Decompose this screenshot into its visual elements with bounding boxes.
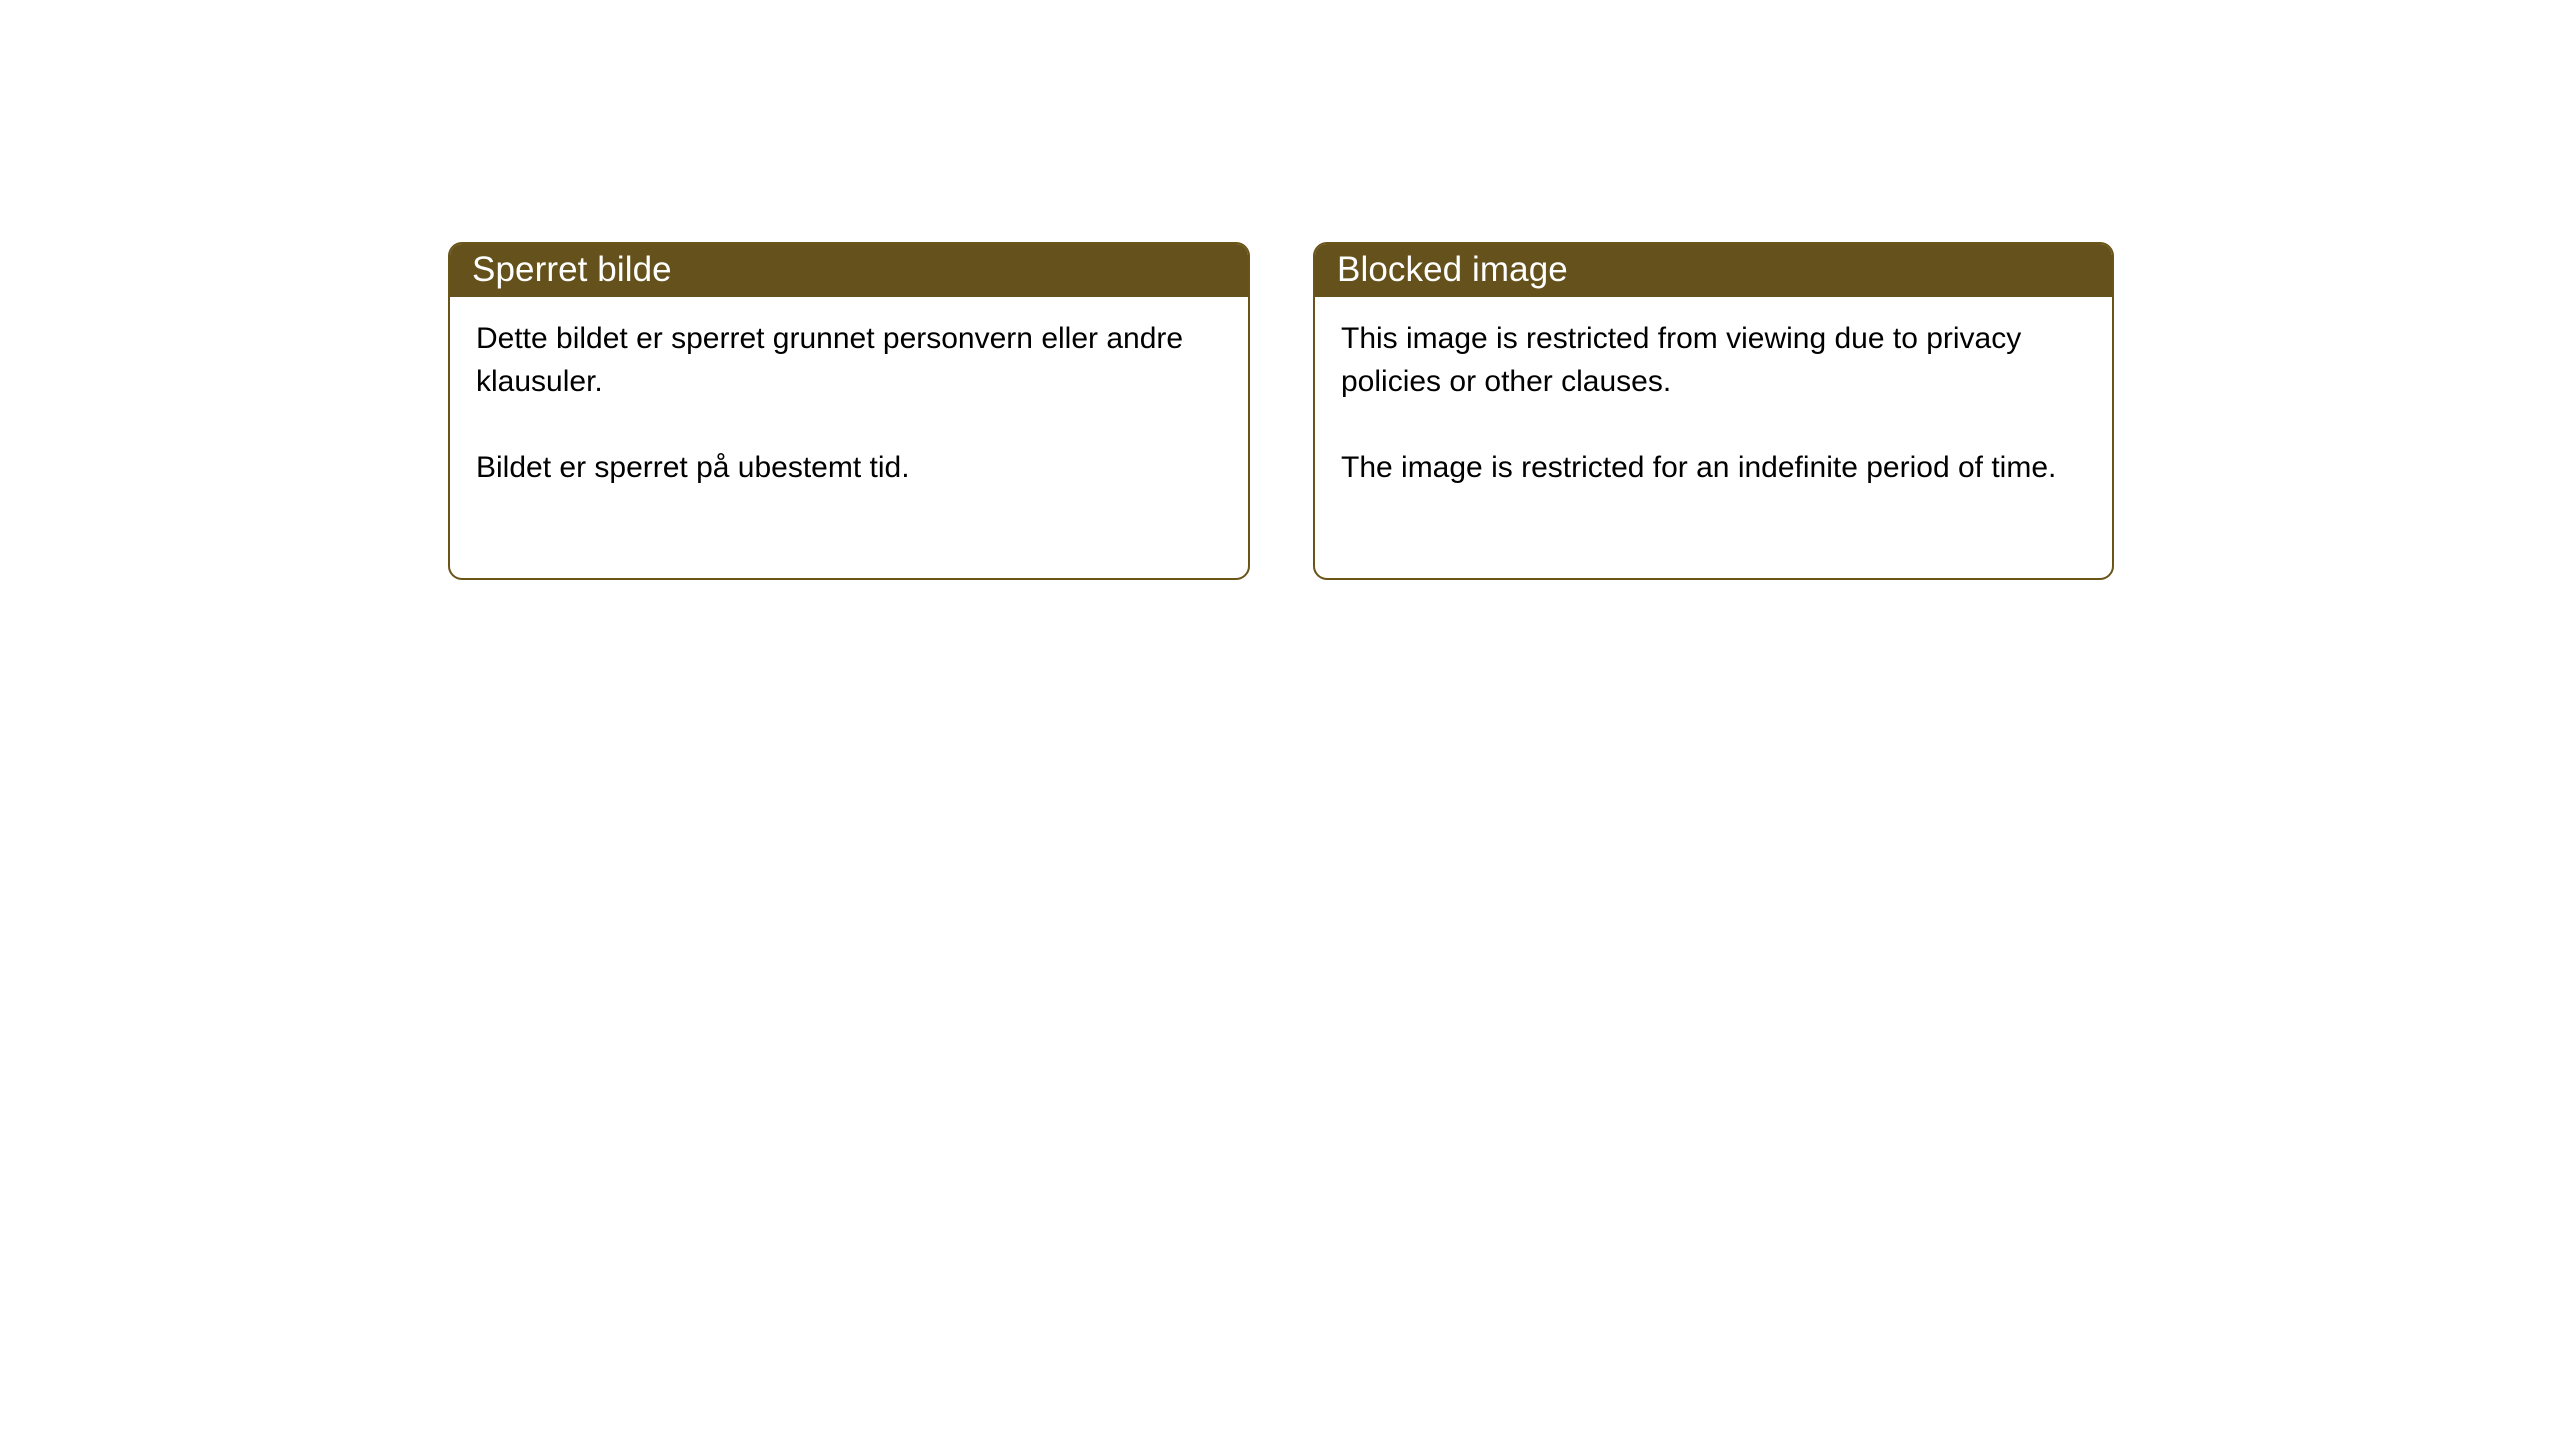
notice-paragraph-reason-english: This image is restricted from viewing du… [1341, 317, 2086, 403]
notice-body-english: This image is restricted from viewing du… [1315, 297, 2112, 489]
notice-paragraph-duration-english: The image is restricted for an indefinit… [1341, 446, 2086, 489]
notice-header-english: Blocked image [1313, 242, 2114, 297]
blocked-image-notice-english: Blocked image This image is restricted f… [1313, 242, 2114, 580]
notice-title-english: Blocked image [1337, 252, 1568, 287]
notice-paragraph-duration-norwegian: Bildet er sperret på ubestemt tid. [476, 446, 1222, 489]
page-canvas: Sperret bilde Dette bildet er sperret gr… [0, 0, 2560, 1440]
notice-body-norwegian: Dette bildet er sperret grunnet personve… [450, 297, 1248, 489]
notice-title-norwegian: Sperret bilde [472, 252, 672, 287]
notice-paragraph-reason-norwegian: Dette bildet er sperret grunnet personve… [476, 317, 1222, 403]
blocked-image-notice-norwegian: Sperret bilde Dette bildet er sperret gr… [448, 242, 1250, 580]
notice-header-norwegian: Sperret bilde [448, 242, 1250, 297]
